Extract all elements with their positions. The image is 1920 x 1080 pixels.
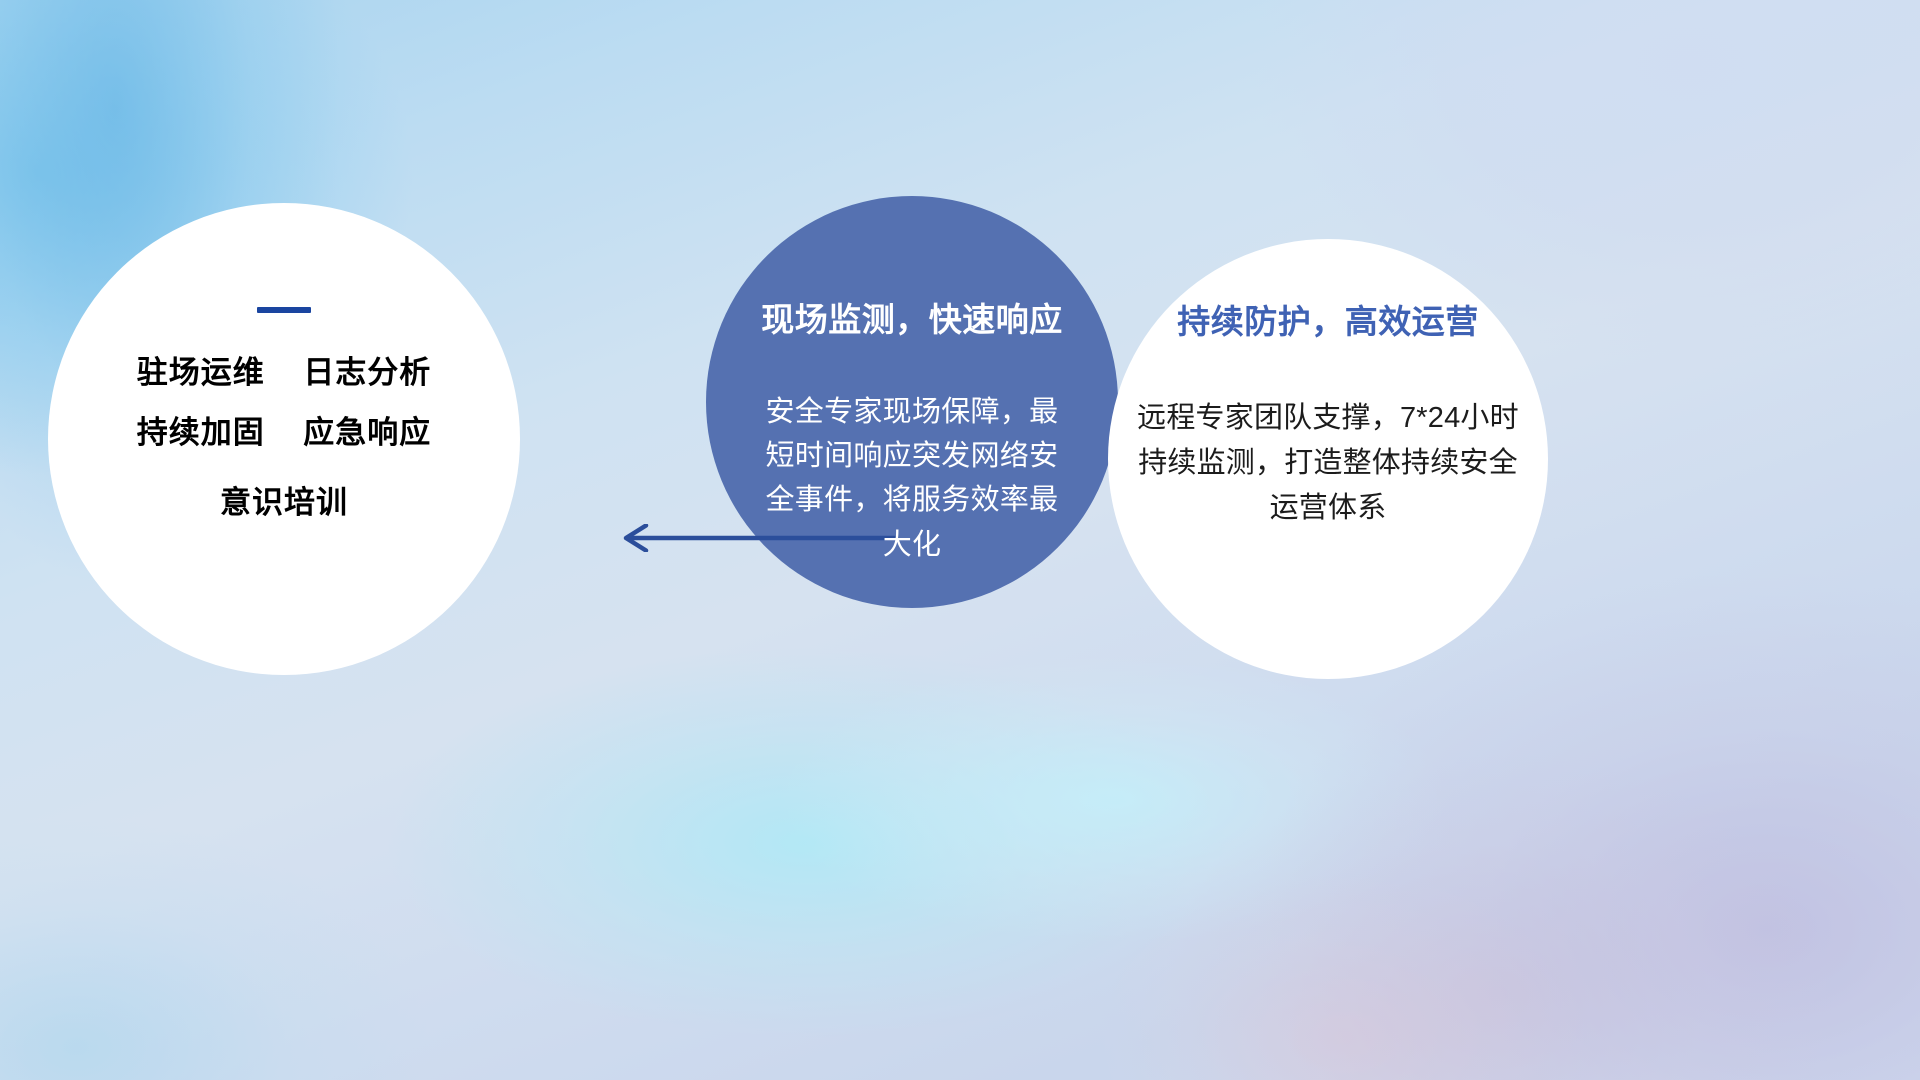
capability-line-3: 意识培训	[220, 487, 348, 518]
onsite-monitoring-title: 现场监测，快速响应	[761, 302, 1063, 338]
continuous-protection-body: 远程专家团队支撑，7*24小时持续监测，打造整体持续安全运营体系	[1128, 396, 1528, 531]
slide-canvas: 驻场运维 日志分析 持续加固 应急响应 意识培训 现场监测，快速响应 安全专家现…	[0, 0, 1920, 1080]
continuous-protection-title: 持续防护，高效运营	[1177, 304, 1479, 340]
capability-line-1: 驻场运维 日志分析	[137, 357, 431, 388]
onsite-monitoring-body: 安全专家现场保障，最短时间响应突发网络安全事件，将服务效率最大化	[762, 390, 1062, 566]
capability-line-2: 持续加固 应急响应	[137, 417, 431, 448]
accent-divider-bar	[257, 307, 311, 313]
capabilities-circle-content: 驻场运维 日志分析 持续加固 应急响应 意识培训	[48, 203, 520, 675]
